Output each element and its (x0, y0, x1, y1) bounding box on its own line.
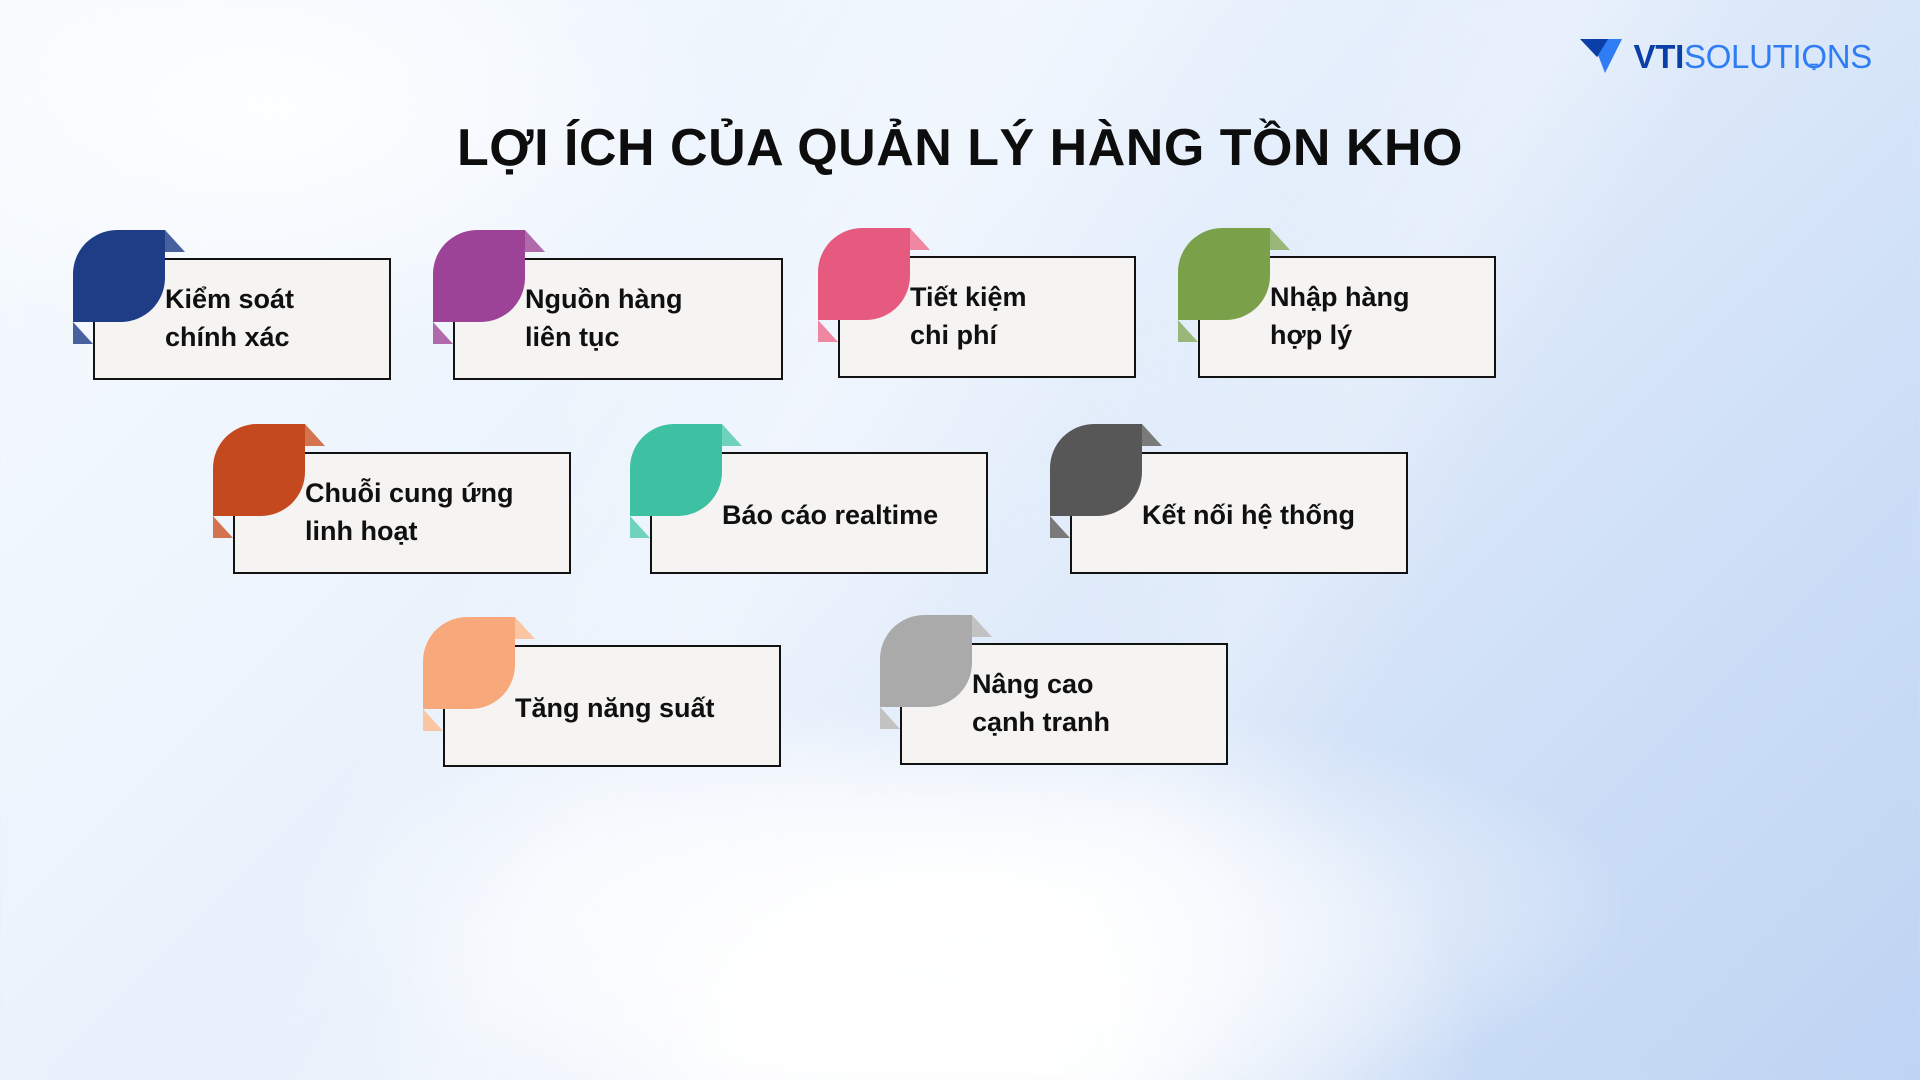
card-label: Báo cáo realtime (722, 496, 974, 534)
card-label: Tăng năng suất (515, 689, 767, 727)
logo-bulb-o: O (1801, 40, 1826, 73)
card-label: Nhập hàng hợp lý (1270, 278, 1482, 355)
benefit-card-tiet-kiem-chi-phi[interactable]: Tiết kiệm chi phí (838, 256, 1136, 378)
logo-vti-text: VTI (1634, 40, 1684, 73)
benefit-card-chuoi-cung-ung-linh-hoat[interactable]: Chuỗi cung ứng linh hoạt (233, 452, 571, 574)
benefit-card-nang-cao-canh-tranh[interactable]: Nâng cao cạnh tranh (900, 643, 1228, 765)
vti-triangle-logo-icon (1578, 37, 1630, 75)
page-title: LỢI ÍCH CỦA QUẢN LÝ HÀNG TỒN KHO (0, 118, 1920, 178)
logo-solutions-mid: OLUTI (1706, 40, 1802, 73)
card-label: Nâng cao cạnh tranh (972, 665, 1214, 742)
card-label: Kết nối hệ thống (1142, 496, 1394, 534)
logo-solutions-pre: S (1684, 40, 1706, 73)
vti-solutions-logo: VTI S OLUTI O NS (1578, 33, 1872, 79)
benefit-card-ket-noi-he-thong[interactable]: Kết nối hệ thống (1070, 452, 1408, 574)
lightbulb-icon (1806, 45, 1822, 71)
card-label: Kiểm soát chính xác (165, 280, 377, 357)
benefit-card-nhap-hang-hop-ly[interactable]: Nhập hàng hợp lý (1198, 256, 1496, 378)
logo-solutions-post: NS (1827, 40, 1872, 73)
card-label: Tiết kiệm chi phí (910, 278, 1122, 355)
card-label: Chuỗi cung ứng linh hoạt (305, 474, 557, 551)
benefit-card-nguon-hang-lien-tuc[interactable]: Nguồn hàng liên tục (453, 258, 783, 380)
benefit-card-tang-nang-suat[interactable]: Tăng năng suất (443, 645, 781, 767)
card-label: Nguồn hàng liên tục (525, 280, 769, 357)
logo-wordmark: VTI S OLUTI O NS (1634, 40, 1872, 73)
benefit-card-bao-cao-realtime[interactable]: Báo cáo realtime (650, 452, 988, 574)
benefit-card-kiem-soat-chinh-xac[interactable]: Kiểm soát chính xác (93, 258, 391, 380)
